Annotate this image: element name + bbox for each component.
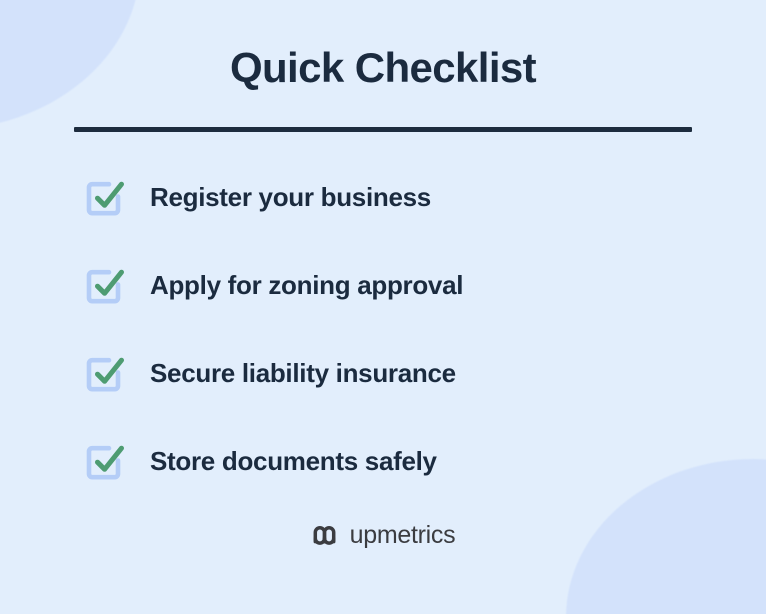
list-item-label: Store documents safely [150,445,437,478]
brand-wordmark: upmetrics [350,523,456,548]
checklist-card: Quick Checklist Register your business A… [0,0,766,614]
list-item[interactable]: Store documents safely [82,438,692,484]
checkbox-checked-icon[interactable] [82,262,128,308]
list-item-label: Secure liability insurance [150,357,456,390]
brand-logo: upmetrics [311,520,456,550]
list-item-label: Apply for zoning approval [150,269,463,302]
checklist: Register your business Apply for zoning … [74,174,692,484]
checkbox-checked-icon[interactable] [82,438,128,484]
checkbox-checked-icon[interactable] [82,350,128,396]
checkbox-checked-icon[interactable] [82,174,128,220]
title-divider [74,127,692,132]
list-item[interactable]: Register your business [82,174,692,220]
page-title: Quick Checklist [230,44,536,92]
list-item[interactable]: Apply for zoning approval [82,262,692,308]
list-item[interactable]: Secure liability insurance [82,350,692,396]
upmetrics-m-icon [311,520,341,550]
list-item-label: Register your business [150,181,431,214]
